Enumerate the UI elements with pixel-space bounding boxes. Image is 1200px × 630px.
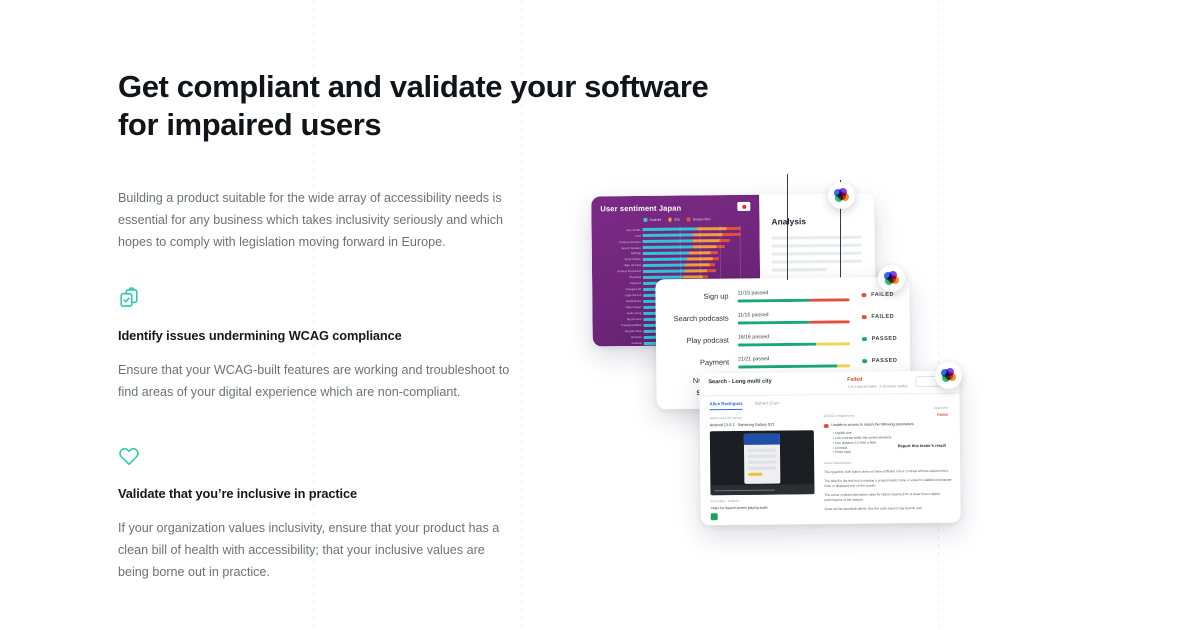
issues-header: WCAG comparisons	[824, 413, 952, 418]
status-chip-icon	[711, 513, 718, 520]
content-column: Get compliant and validate your software…	[118, 68, 518, 583]
bar-label: My Account	[599, 317, 643, 321]
skeleton-line	[772, 244, 862, 248]
status-dot-icon	[862, 315, 867, 320]
bar-label: Reviews	[600, 335, 644, 339]
bar-label: Password Editor	[600, 323, 644, 327]
status-badge: FAILED	[862, 314, 895, 320]
phone-header-bar	[744, 434, 780, 445]
brand-blob-logo	[834, 188, 850, 204]
test-name: Play podcast	[666, 336, 738, 346]
status-badge: PASSED	[862, 336, 897, 342]
bottom-note: Does not list standards labels. See the …	[825, 506, 953, 512]
progress-bar	[738, 342, 850, 346]
issue-status: Failed	[937, 413, 947, 417]
bar-label: Product Placement	[599, 269, 643, 273]
bar-segment	[685, 269, 707, 273]
status-dot-icon	[861, 293, 866, 298]
legend-swatch	[668, 218, 672, 222]
bar-segment	[693, 245, 717, 249]
chart-legend: Android iOS Screen Rec	[643, 217, 710, 222]
bar-segment	[693, 239, 720, 243]
report-title: Search - Long multi city	[708, 379, 771, 386]
bar-label: Search function	[599, 245, 643, 249]
bar-label: Audio setup	[599, 311, 643, 315]
jp-flag-icon	[737, 202, 750, 211]
skeleton-line	[772, 260, 862, 264]
progress-bar	[738, 298, 850, 302]
feature-block-compliance: Identify issues undermining WCAG complia…	[118, 287, 510, 403]
status-badge: PASSED	[862, 358, 897, 364]
progress-yellow	[816, 342, 850, 345]
bar-segment	[643, 263, 685, 267]
status-badge: FAILED	[861, 292, 894, 298]
status-label: PASSED	[872, 358, 898, 364]
progress-bar	[738, 364, 850, 368]
legend-swatch	[643, 218, 647, 222]
legend-swatch	[687, 218, 691, 222]
device-section-label: Device and OS version	[710, 416, 743, 420]
skeleton-line	[772, 252, 862, 256]
test-progress: 11/15 passed	[738, 312, 850, 324]
test-report-card: Search - Long multi city Failed 1 of 4 c…	[699, 371, 961, 526]
status-label: FAILED	[871, 292, 894, 298]
status-label: FAILED	[871, 314, 894, 320]
status-dot-icon	[862, 359, 867, 364]
bar-label: Payment	[599, 281, 643, 285]
bar-label: Notifications	[599, 299, 643, 303]
progress-red	[809, 320, 849, 323]
phone-screen-preview	[744, 434, 781, 484]
device-value: Android 13.0.1 · Samsung Galaxy S21	[710, 423, 775, 428]
bar-segment	[711, 251, 718, 254]
bar-label: Cart	[599, 233, 643, 237]
clipboard-check-icon	[118, 287, 140, 309]
test-progress: 16/16 passed	[738, 334, 850, 346]
legend-label: Screen Rec	[693, 217, 711, 221]
bar-label: Podcast	[600, 341, 644, 345]
video-subcaption: Video for Search screen playing audio	[711, 506, 768, 511]
issue-paragraph: The hyperlink ‘Edit’ button does not hav…	[824, 469, 952, 475]
bar-segment	[643, 233, 693, 237]
test-passed-count: 21/21 passed	[738, 356, 850, 363]
progress-green	[738, 321, 810, 324]
brand-badge	[828, 182, 855, 209]
progress-yellow	[837, 364, 850, 367]
feature-title: Validate that you’re inclusive in practi…	[118, 486, 510, 501]
report-meta: 1 of 4 checks failed · 2 elements confli…	[847, 384, 907, 389]
progress-green	[738, 299, 810, 302]
test-name: Sign up	[665, 292, 737, 302]
tab-alice-rodriguez[interactable]: Alice Rodriguez	[710, 401, 743, 410]
session-video-player[interactable]	[710, 430, 815, 495]
feature-body: If your organization values inclusivity,…	[118, 518, 510, 583]
status-dot-icon	[862, 337, 867, 342]
legend-item: Screen Rec	[687, 217, 711, 221]
page-root: Get compliant and validate your software…	[0, 0, 1200, 630]
video-caption: Recording - Android	[711, 499, 739, 503]
tab-robert-chen[interactable]: Robert Chen	[755, 401, 780, 410]
bar-label: Reorder Flow	[600, 329, 644, 333]
report-issues-panel: WCAG comparisons Approved Failed Report …	[824, 413, 953, 512]
card2-accent-divider	[787, 174, 788, 280]
progress-green	[738, 364, 837, 368]
bar-segment	[727, 227, 741, 231]
feature-title: Identify issues undermining WCAG complia…	[118, 328, 510, 343]
test-name: Payment	[666, 358, 738, 368]
error-dot-icon	[824, 424, 829, 429]
issue-title: Unable to access to match the following …	[831, 422, 914, 428]
bar-label: Search Store	[599, 257, 643, 261]
bar-segment	[693, 233, 723, 237]
bar-label: User Profile	[599, 227, 643, 231]
bar-label: Video Player	[599, 305, 643, 309]
bar-segment	[723, 233, 741, 237]
test-name: Search podcasts	[666, 314, 738, 324]
test-progress: 11/15 passed	[737, 290, 849, 302]
bar-label: Login Screen	[599, 293, 643, 297]
bar-segment	[643, 239, 693, 243]
report-tabs: Alice Rodriguez Robert Chen	[710, 401, 780, 411]
progress-bar	[738, 320, 850, 324]
brand-badge	[878, 265, 905, 292]
bar-segment	[643, 251, 689, 255]
bar-segment	[643, 269, 685, 273]
heart-icon	[118, 445, 140, 467]
legend-item: iOS	[668, 218, 680, 222]
status-label: PASSED	[872, 336, 898, 342]
brand-blob-logo	[941, 368, 957, 384]
report-result-link[interactable]: Report this tester's result	[898, 443, 946, 449]
brand-blob-logo	[884, 271, 900, 287]
report-status: Failed	[847, 377, 862, 383]
progress-red	[809, 298, 849, 301]
feature-block-inclusive: Validate that you’re inclusive in practi…	[118, 445, 510, 583]
bar-segment	[707, 269, 716, 272]
sentiment-chart-title: User sentiment Japan	[600, 204, 681, 214]
intro-paragraph: Building a product suitable for the wide…	[118, 187, 508, 253]
bar-label: Category list	[599, 287, 643, 291]
bar-label: Product selection	[599, 239, 643, 243]
skeleton-line	[772, 236, 862, 240]
feature-body: Ensure that your WCAG-built features are…	[118, 360, 510, 403]
issue-item: • Press input	[833, 449, 952, 455]
test-progress: 21/21 passed	[738, 356, 850, 368]
bar-label: Sign Up Flow	[599, 263, 643, 267]
test-passed-count: 11/15 passed	[738, 312, 850, 319]
video-controls-bar[interactable]	[710, 484, 814, 495]
bar-segment	[697, 227, 727, 231]
issue-paragraph: The label for the text box is missing a …	[824, 478, 952, 489]
page-title: Get compliant and validate your software…	[118, 68, 733, 143]
skeleton-line	[772, 268, 827, 272]
progress-green	[738, 343, 816, 346]
legend-label: iOS	[674, 218, 680, 222]
product-screenshot-collage: User sentiment Japan Android iOS Screen …	[560, 170, 990, 550]
bar-segment	[720, 239, 730, 242]
requirement-label: Approved	[934, 406, 948, 410]
legend-label: Android	[649, 218, 661, 222]
notes-label: Issue Classification	[824, 460, 952, 466]
bar-segment	[644, 341, 656, 345]
analysis-title: Analysis	[771, 216, 806, 226]
brand-badge	[935, 362, 962, 389]
bar-segment	[710, 263, 715, 266]
legend-item: Android	[643, 218, 661, 222]
bar-label: Checkout	[599, 275, 643, 279]
bar-segment	[643, 245, 693, 249]
issue-paragraph: The colour contrast alternative value fo…	[824, 492, 952, 503]
bar-label: Settings	[599, 251, 643, 255]
bar-segment	[685, 263, 710, 267]
bar-segment	[713, 257, 719, 260]
bar-segment	[643, 227, 697, 231]
issue-row: Unable to access to match the following …	[824, 422, 952, 429]
test-passed-count: 11/15 passed	[737, 290, 849, 297]
test-passed-count: 16/16 passed	[738, 334, 850, 341]
